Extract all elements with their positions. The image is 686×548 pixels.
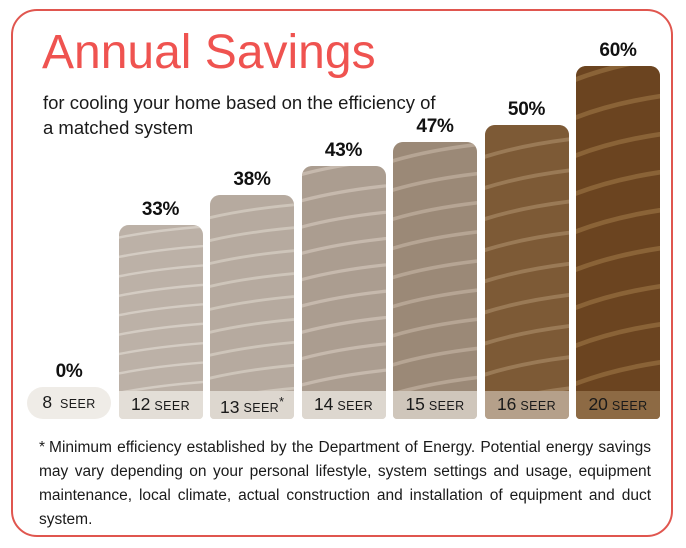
bar-stripe-pattern [393,142,477,391]
bar-stripe-pattern [485,125,569,391]
bar-column-15-seer[interactable]: 15SEER47% [393,142,477,419]
bar-seer-unit: SEER [154,399,190,413]
bar-seer-unit: SEER [56,397,96,411]
bar-column-14-seer[interactable]: 14SEER43% [302,166,386,419]
bar-seer-unit: SEER [337,399,373,413]
bar-body [485,125,569,391]
bar-seer-unit: SEER [612,399,648,413]
bar-15-seer: 15SEER [393,142,477,419]
bar-value-label-14-seer: 43% [302,140,386,162]
bar-footnote-marker: * [279,395,284,409]
bar-seer-number: 14 [314,394,333,414]
bar-value-label-13-seer: 38% [210,169,294,191]
bar-value-label-16-seer: 50% [485,99,569,121]
bar-body [210,195,294,391]
bar-axis-label: 20SEER [588,395,647,415]
footnote-text: Minimum efficiency established by the De… [39,439,651,528]
bar-column-13-seer[interactable]: 13SEER*38% [210,195,294,419]
bar-column-12-seer[interactable]: 12SEER33% [119,225,203,419]
bar-stripe-pattern [119,225,203,391]
bar-label-band-15-seer: 15SEER [393,391,477,419]
bar-body [576,66,660,391]
footnote-marker: * [39,439,45,456]
bar-stripe-pattern [576,66,660,391]
bar-axis-label: 14SEER [314,395,373,415]
bar-seer-number: 20 [588,394,607,414]
bar-13-seer: 13SEER* [210,195,294,419]
bar-axis-label: 12SEER [131,395,190,415]
bar-stripe-pattern [302,166,386,391]
bar-label-band-12-seer: 12SEER [119,391,203,419]
bar-axis-label: 16SEER [497,395,556,415]
bar-seer-number: 12 [131,394,150,414]
footnote: *Minimum efficiency established by the D… [39,436,651,532]
bar-column-16-seer[interactable]: 16SEER50% [485,125,569,419]
bar-label-band-13-seer: 13SEER* [210,391,294,419]
bar-seer-number: 15 [405,394,424,414]
bar-seer-number: 13 [220,396,239,416]
bar-label-band-16-seer: 16SEER [485,391,569,419]
bar-value-label-12-seer: 33% [119,199,203,221]
bar-14-seer: 14SEER [302,166,386,419]
bar-axis-label: 15SEER [405,395,464,415]
bar-12-seer: 12SEER [119,225,203,419]
bar-20-seer: 20SEER [576,66,660,419]
bar-body [119,225,203,391]
bar-label-pill-8-seer: 8 SEER [27,387,111,419]
bar-seer-unit: SEER [520,399,556,413]
bar-seer-unit: SEER [243,401,279,415]
infographic-frame: Annual Savings for cooling your home bas… [11,9,673,537]
bar-label-band-14-seer: 14SEER [302,391,386,419]
bar-column-20-seer[interactable]: 20SEER60% [576,66,660,419]
bar-16-seer: 16SEER [485,125,569,419]
bar-axis-label: 8 SEER [42,393,95,413]
bar-seer-number: 16 [497,394,516,414]
bar-body [393,142,477,391]
bar-label-band-20-seer: 20SEER [576,391,660,419]
bar-value-label-15-seer: 47% [393,116,477,138]
bar-seer-unit: SEER [429,399,465,413]
bar-value-label-20-seer: 60% [576,40,660,62]
bar-value-label-8-seer: 0% [27,361,111,383]
bar-axis-label: 13SEER* [220,393,284,418]
bar-body [302,166,386,391]
bar-chart: 8 SEER0%12SEER33%13SEER*38%14SEER43%15SE… [13,11,675,431]
bar-stripe-pattern [210,195,294,391]
bar-seer-number: 8 [42,392,52,412]
bar-column-8-seer[interactable]: 8 SEER0% [27,387,111,419]
